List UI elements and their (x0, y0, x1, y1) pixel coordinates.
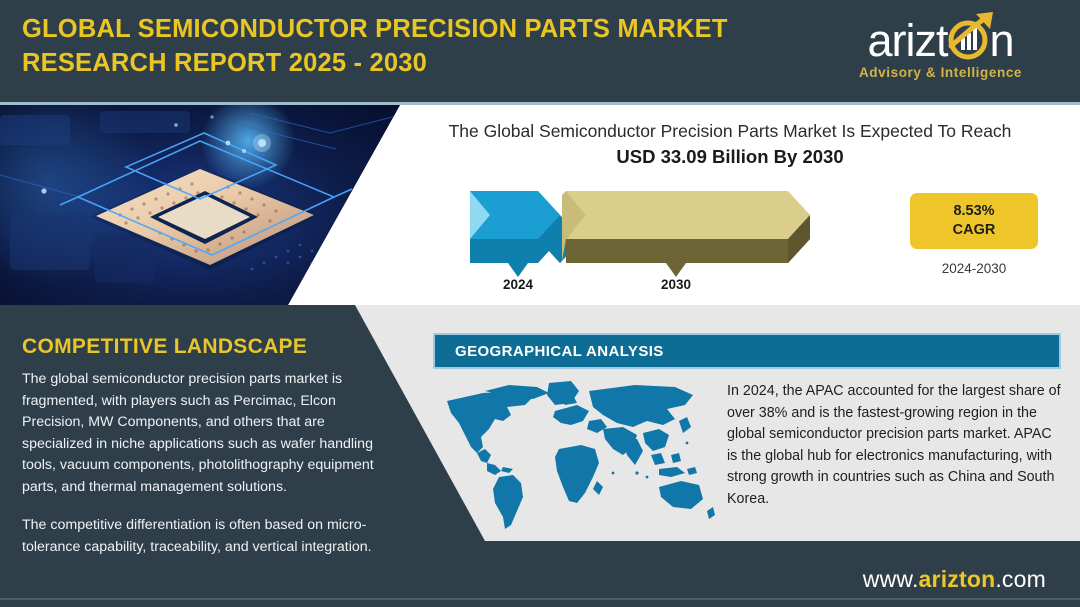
world-map (437, 377, 719, 537)
market-growth-arrow-chart: 2024 2030 8.53% CAGR 2024-2030 (470, 185, 1080, 295)
world-map-icon (437, 377, 719, 537)
logo-tagline: Advisory & Intelligence (833, 65, 1048, 80)
logo-wordmark-part1: arizt (867, 18, 947, 64)
hero-headline: The Global Semiconductor Precision Parts… (400, 119, 1060, 169)
geographical-analysis-heading: GEOGRAPHICAL ANALYSIS (455, 343, 664, 360)
bar-label-2024: 2024 (488, 277, 548, 292)
arizton-logo: arizt n Advisory & Intelligence (833, 16, 1048, 90)
geographical-analysis-body: In 2024, the APAC accounted for the larg… (727, 381, 1061, 510)
footer-website-url[interactable]: www.arizton.com (863, 566, 1046, 593)
url-prefix: www. (863, 566, 919, 592)
pointer-2030 (666, 263, 686, 277)
cagr-label: CAGR (953, 221, 996, 240)
logo-mark: arizt n (833, 16, 1048, 66)
hero-section: The Global Semiconductor Precision Parts… (0, 105, 1080, 305)
hero-headline-line1: The Global Semiconductor Precision Parts… (449, 121, 1012, 141)
semiconductor-chip-image (0, 105, 400, 305)
arrow-chart-svg (470, 185, 900, 280)
url-suffix: .com (995, 566, 1046, 592)
cagr-value: 8.53% (953, 202, 994, 221)
infographic-page: GLOBAL SEMICONDUCTOR PRECISION PARTS MAR… (0, 0, 1080, 607)
growth-arrow-icon (943, 8, 1001, 68)
url-brand: arizton (919, 566, 996, 592)
cagr-badge: 8.53% CAGR (910, 193, 1038, 249)
bar-label-2030: 2030 (646, 277, 706, 292)
pointer-2024 (508, 263, 528, 277)
hero-headline-line2: USD 33.09 Billion By 2030 (400, 145, 1060, 169)
page-title: GLOBAL SEMICONDUCTOR PRECISION PARTS MAR… (22, 12, 782, 80)
bar-2030-top (566, 191, 810, 239)
geographical-analysis-header: GEOGRAPHICAL ANALYSIS (433, 333, 1061, 369)
cagr-period: 2024-2030 (910, 261, 1038, 276)
competitive-landscape-body: The global semiconductor precision parts… (22, 369, 384, 558)
competitive-paragraph-1: The global semiconductor precision parts… (22, 369, 384, 498)
footer-divider (0, 598, 1080, 600)
logo-chart-o-icon (947, 18, 989, 64)
competitive-paragraph-2: The competitive differentiation is often… (22, 515, 384, 558)
competitive-landscape-heading: COMPETITIVE LANDSCAPE (22, 335, 307, 359)
lower-section: COMPETITIVE LANDSCAPE The global semicon… (0, 305, 1080, 607)
